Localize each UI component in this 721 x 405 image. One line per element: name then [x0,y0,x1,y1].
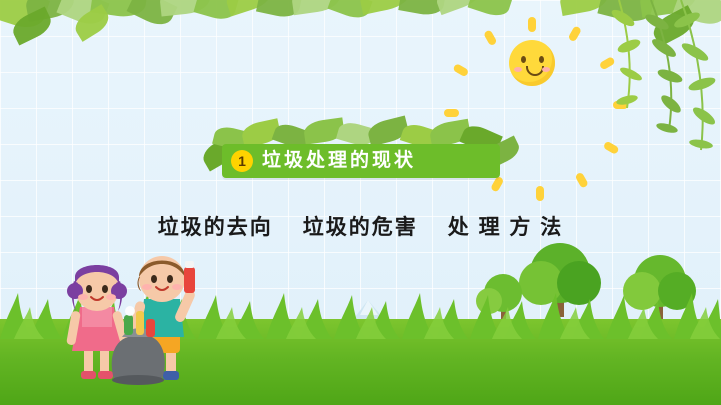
page-title: 垃圾处理的现状 [262,148,416,174]
presentation-slide: 1 垃圾处理的现状 垃圾的去向 垃圾的危害 处 理 方 法 [0,0,721,405]
slide-title-block: 1 垃圾处理的现状 [198,124,523,186]
willow-branch-decoration [501,0,721,200]
subtitle-item-2: 垃圾的危害 [303,211,418,241]
title-number-badge: 1 [231,150,253,172]
bottle-item [184,261,195,293]
title-bar: 1 垃圾处理的现状 [222,144,500,178]
two-children-illustration [52,233,272,393]
